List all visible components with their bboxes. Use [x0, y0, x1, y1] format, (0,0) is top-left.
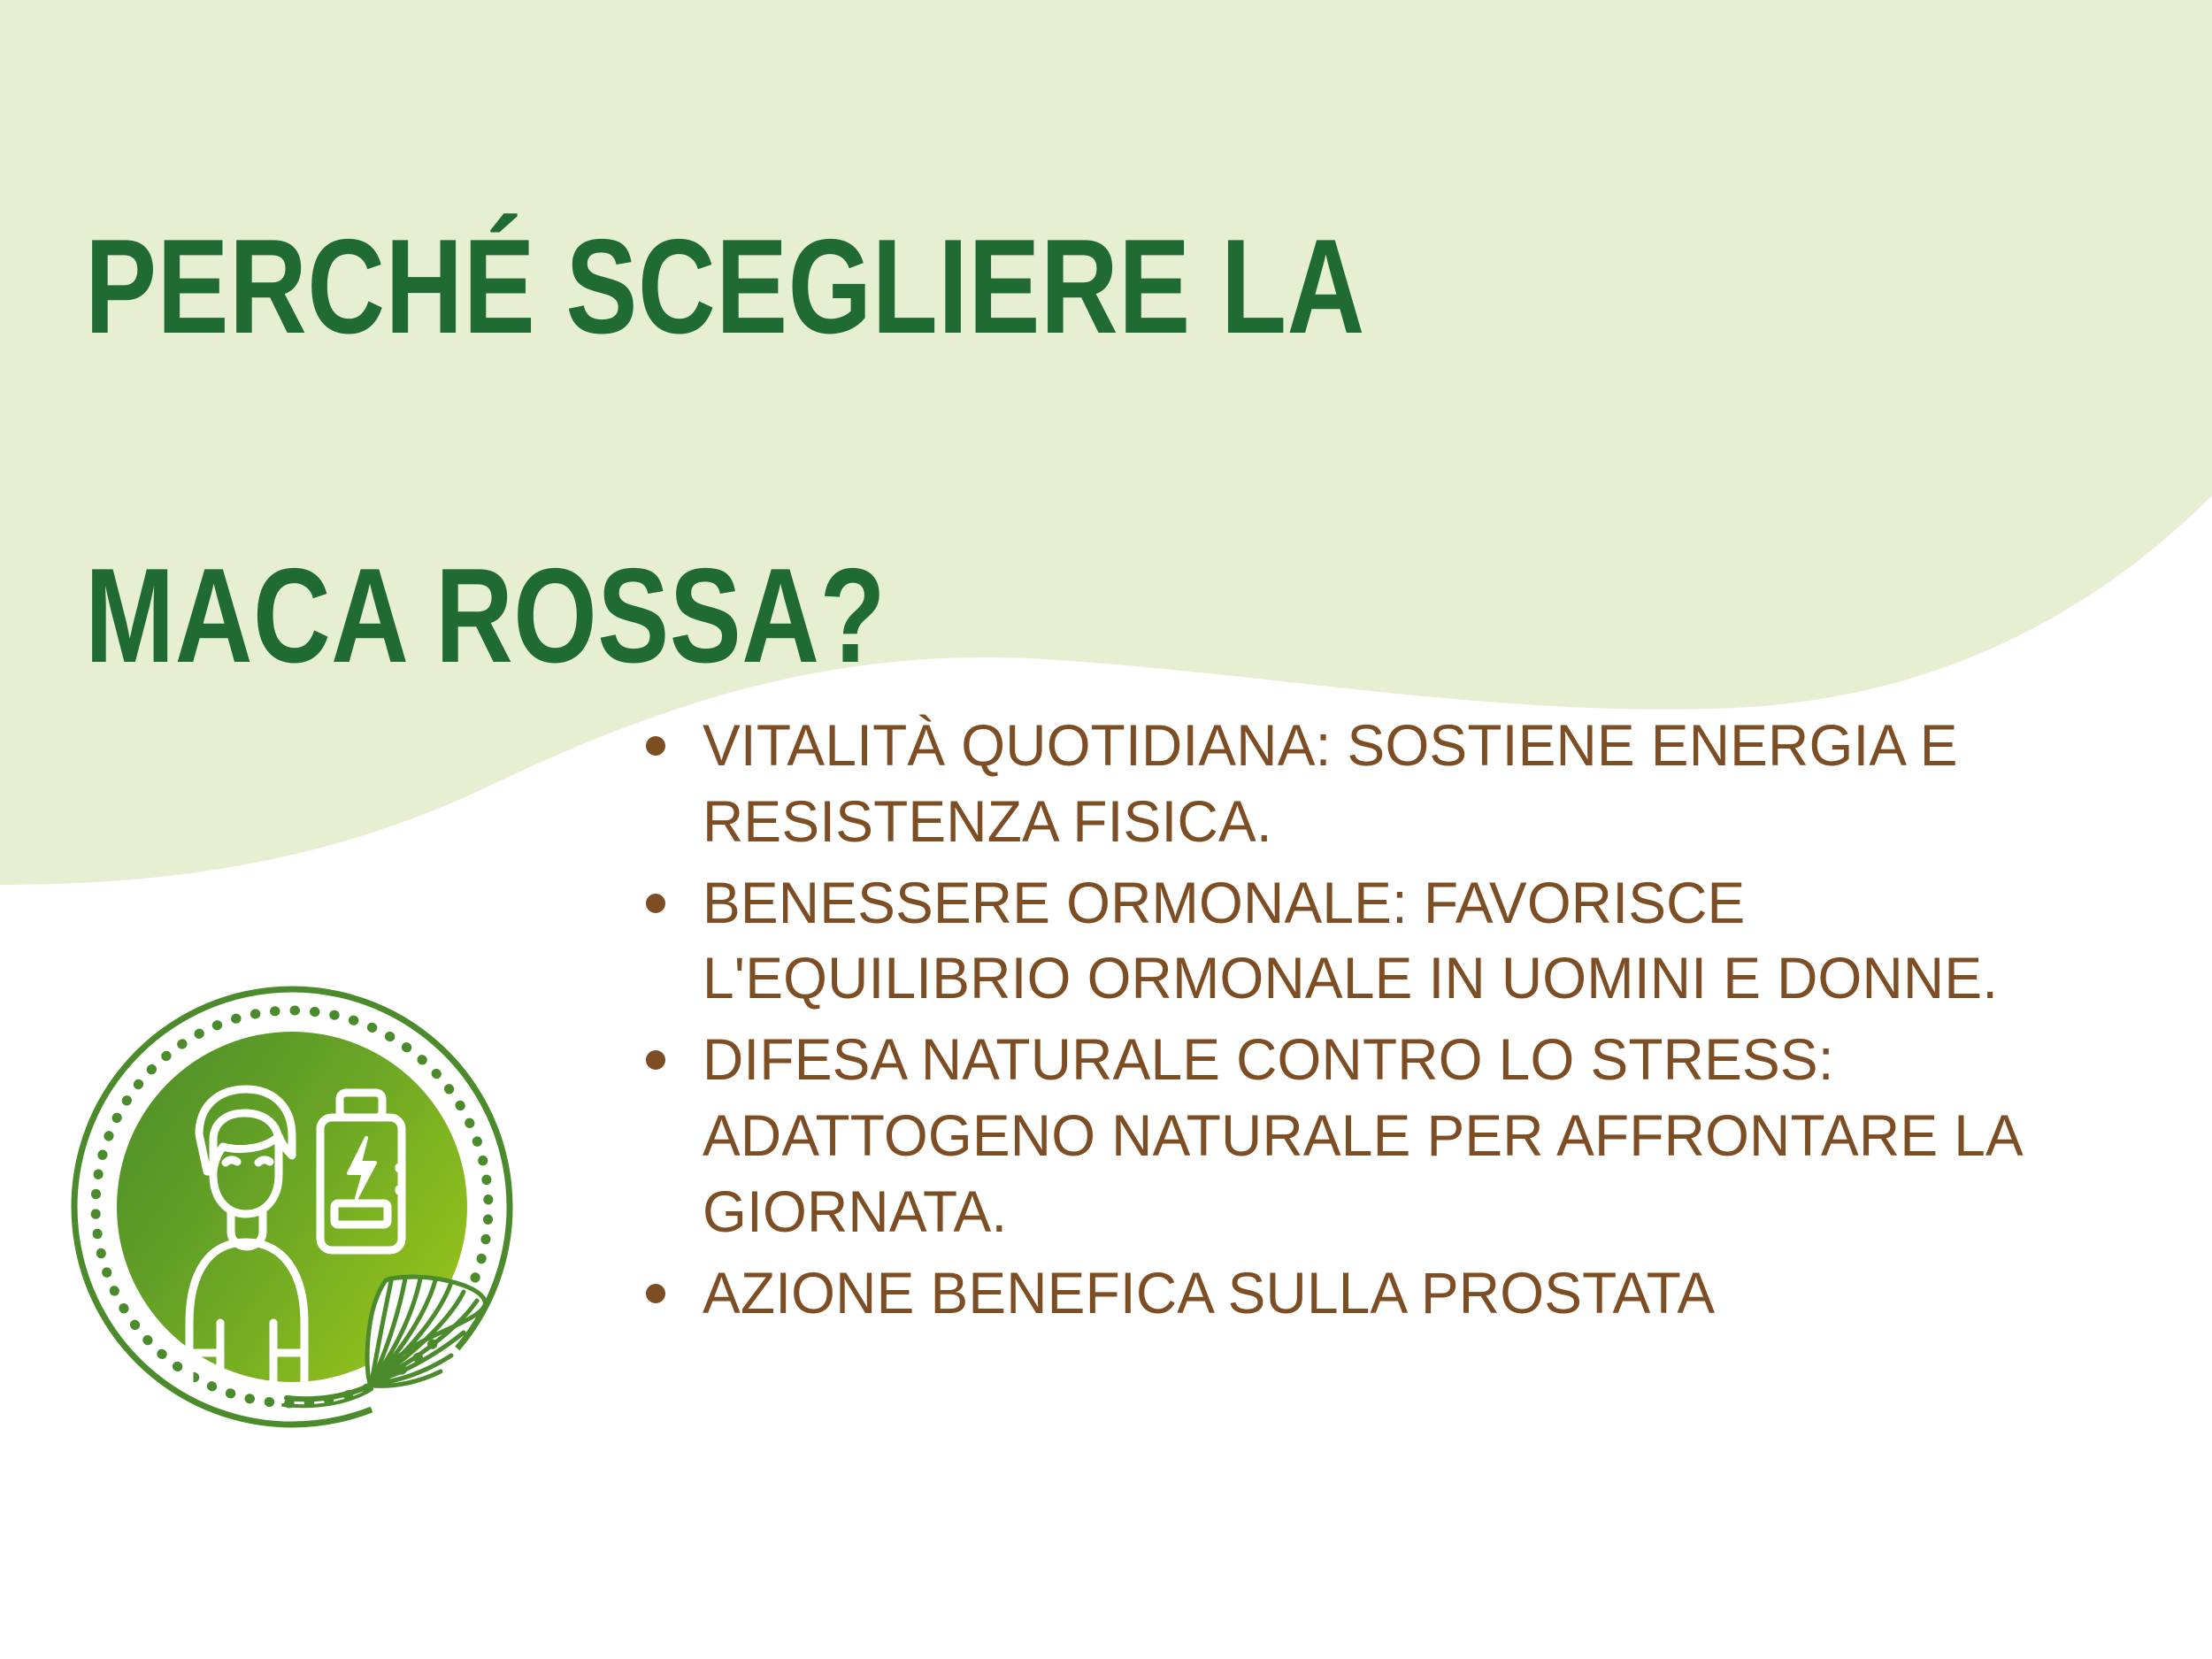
list-item: VITALITÀ QUOTIDIANA: SOSTIENE ENERGIA E … — [646, 708, 2150, 860]
list-item: AZIONE BENEFICA SULLA PROSTATA — [646, 1256, 2150, 1332]
bullet-dot-icon — [646, 736, 665, 756]
benefits-list: VITALITÀ QUOTIDIANA: SOSTIENE ENERGIA E … — [646, 708, 2150, 1336]
list-item-label: AZIONE BENEFICA SULLA PROSTATA — [703, 1256, 2107, 1332]
bullet-dot-icon — [646, 1050, 665, 1070]
page-title-line-2: MACA ROSSA? — [85, 548, 1430, 685]
page-title-line-1: PERCHÉ SCEGLIERE LA — [85, 219, 1430, 356]
list-item-label: VITALITÀ QUOTIDIANA: SOSTIENE ENERGIA E … — [703, 708, 2107, 860]
list-item: DIFESA NATURALE CONTRO LO STRESS: ADATTO… — [646, 1022, 2150, 1249]
list-item-label: BENESSERE ORMONALE: FAVORISCE L'EQUILIBR… — [703, 865, 2107, 1018]
list-item: BENESSERE ORMONALE: FAVORISCE L'EQUILIBR… — [646, 865, 2150, 1018]
bullet-dot-icon — [646, 1284, 665, 1303]
list-item-label: DIFESA NATURALE CONTRO LO STRESS: ADATTO… — [703, 1022, 2107, 1249]
bullet-dot-icon — [646, 894, 665, 913]
slide-canvas: PERCHÉ SCEGLIERE LA MACA ROSSA? VITALITÀ… — [0, 0, 2212, 1659]
vitality-energy-badge — [55, 966, 568, 1462]
